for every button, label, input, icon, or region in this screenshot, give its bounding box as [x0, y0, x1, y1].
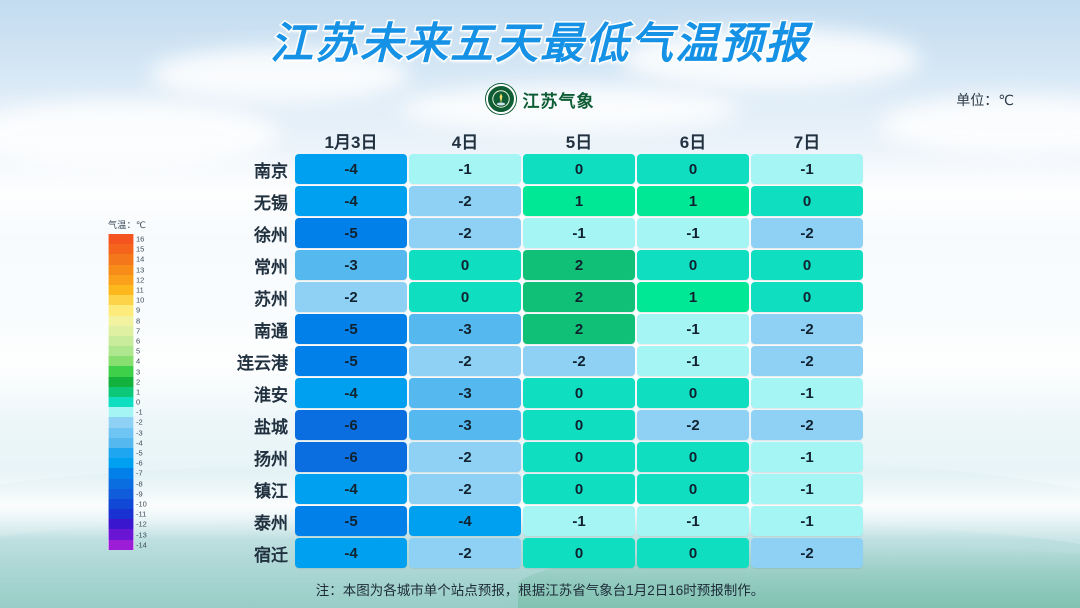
legend-swatch [108, 326, 134, 336]
temperature-cell: -2 [409, 218, 521, 248]
table-body: 南京-4-100-1无锡-4-2110徐州-5-2-1-1-2常州-30200苏… [180, 154, 865, 568]
legend-tick-label: -11 [136, 511, 146, 519]
row-header-city: 泰州 [180, 509, 295, 534]
brand-name: 江苏气象 [523, 87, 595, 112]
legend-row: 10 [108, 295, 164, 305]
temperature-cell: 0 [523, 538, 635, 568]
temperature-cell: 0 [523, 442, 635, 472]
legend-swatch [108, 499, 134, 509]
legend-row: 11 [108, 285, 164, 295]
legend-tick-label: 15 [136, 246, 144, 254]
legend-tick-label: -9 [136, 490, 143, 498]
legend-swatch [108, 346, 134, 356]
legend-tick-label: -5 [136, 450, 143, 458]
temperature-cell: -4 [295, 186, 407, 216]
legend-tick-label: 4 [136, 358, 140, 366]
legend-swatch [108, 305, 134, 315]
temperature-cell: -6 [295, 442, 407, 472]
legend-row: 12 [108, 275, 164, 285]
temperature-cell: -1 [751, 154, 863, 184]
column-header-day-2: 4日 [409, 128, 521, 153]
legend-tick-label: 11 [136, 287, 144, 295]
legend-tick-label: 5 [136, 348, 140, 356]
legend-row: -14 [108, 540, 164, 550]
legend-row: -9 [108, 489, 164, 499]
temperature-cell: -5 [295, 314, 407, 344]
forecast-table: 1月3日4日5日6日7日 南京-4-100-1无锡-4-2110徐州-5-2-1… [180, 126, 865, 570]
legend-row: 9 [108, 305, 164, 315]
legend-swatch [108, 254, 134, 264]
legend-swatch [108, 428, 134, 438]
temperature-cell: 0 [409, 282, 521, 312]
legend-swatch [108, 458, 134, 468]
legend-row: 0 [108, 397, 164, 407]
legend-tick-label: 16 [136, 236, 144, 244]
legend-tick-label: 0 [136, 399, 140, 407]
legend-row: -6 [108, 458, 164, 468]
temperature-cell: -2 [751, 410, 863, 440]
legend-swatch [108, 285, 134, 295]
temperature-cell: 0 [523, 378, 635, 408]
row-header-city: 无锡 [180, 189, 295, 214]
column-header-day-3: 5日 [523, 128, 635, 153]
table-row: 盐城-6-30-2-2 [180, 410, 865, 440]
table-row: 常州-30200 [180, 250, 865, 280]
temperature-cell: -2 [637, 410, 749, 440]
temperature-cell: -1 [523, 218, 635, 248]
unit-label: 单位：℃ [956, 90, 1014, 110]
legend-row: -4 [108, 438, 164, 448]
temperature-cell: -5 [295, 218, 407, 248]
temperature-cell: 0 [751, 250, 863, 280]
temperature-cell: -2 [295, 282, 407, 312]
temperature-cell: -5 [295, 346, 407, 376]
legend-tick-label: -13 [136, 531, 147, 539]
temperature-cell: -1 [637, 346, 749, 376]
legend-row: -10 [108, 499, 164, 509]
temperature-cell: 1 [523, 186, 635, 216]
legend-swatch [108, 529, 134, 539]
legend-row: 6 [108, 336, 164, 346]
legend-tick-label: 9 [136, 307, 140, 315]
legend-row: 2 [108, 377, 164, 387]
legend-tick-label: 6 [136, 338, 140, 346]
legend-swatch [108, 540, 134, 550]
row-header-city: 盐城 [180, 413, 295, 438]
temperature-cell: 2 [523, 250, 635, 280]
legend-row: 7 [108, 326, 164, 336]
temperature-cell: 2 [523, 282, 635, 312]
column-header-day-5: 7日 [751, 128, 863, 153]
temperature-cell: -1 [751, 506, 863, 536]
temperature-cell: -1 [637, 314, 749, 344]
legend-row: 1 [108, 387, 164, 397]
legend-swatch [108, 438, 134, 448]
row-header-city: 淮安 [180, 381, 295, 406]
column-header-day-1: 1月3日 [295, 128, 407, 153]
weather-forecast-infographic: 江苏未来五天最低气温预报 江苏气象 单位：℃ 气温：℃ 161514131211… [0, 0, 1080, 608]
legend-tick-label: -6 [136, 460, 143, 468]
legend-title: 气温：℃ [108, 218, 164, 231]
temperature-cell: -4 [295, 378, 407, 408]
legend-row: -1 [108, 407, 164, 417]
legend-swatch [108, 407, 134, 417]
table-row: 无锡-4-2110 [180, 186, 865, 216]
legend-row: 13 [108, 265, 164, 275]
table-row: 淮安-4-300-1 [180, 378, 865, 408]
table-row: 镇江-4-200-1 [180, 474, 865, 504]
legend-row: -13 [108, 529, 164, 539]
temperature-cell: -2 [751, 538, 863, 568]
row-header-city: 连云港 [180, 349, 295, 374]
legend-swatch [108, 397, 134, 407]
legend-swatch [108, 366, 134, 376]
row-header-city: 苏州 [180, 285, 295, 310]
temperature-cell: -2 [409, 186, 521, 216]
legend-swatch [108, 489, 134, 499]
legend-row: -7 [108, 468, 164, 478]
temperature-cell: 2 [523, 314, 635, 344]
brand-block: 江苏气象 [0, 84, 1080, 114]
table-column-header-row: 1月3日4日5日6日7日 [295, 126, 865, 154]
temperature-cell: -4 [295, 154, 407, 184]
temperature-cell: -6 [295, 410, 407, 440]
legend-row: -12 [108, 519, 164, 529]
temperature-cell: -3 [409, 378, 521, 408]
temperature-cell: -3 [295, 250, 407, 280]
temperature-cell: -1 [751, 378, 863, 408]
legend-row: 3 [108, 366, 164, 376]
temperature-cell: 0 [409, 250, 521, 280]
color-scale-legend: 气温：℃ 161514131211109876543210-1-2-3-4-5-… [108, 218, 164, 550]
legend-swatch [108, 417, 134, 427]
temperature-cell: -3 [409, 410, 521, 440]
page-title: 江苏未来五天最低气温预报 [0, 18, 1080, 70]
temperature-cell: 0 [523, 474, 635, 504]
legend-row: -11 [108, 509, 164, 519]
legend-swatch [108, 448, 134, 458]
row-header-city: 扬州 [180, 445, 295, 470]
temperature-cell: 0 [751, 186, 863, 216]
legend-row: 14 [108, 254, 164, 264]
legend-row: 8 [108, 316, 164, 326]
legend-row: -3 [108, 428, 164, 438]
legend-tick-label: 10 [136, 297, 144, 305]
temperature-cell: 0 [523, 410, 635, 440]
legend-tick-label: -14 [136, 541, 147, 549]
row-header-city: 徐州 [180, 221, 295, 246]
temperature-cell: -1 [751, 442, 863, 472]
temperature-cell: -2 [751, 346, 863, 376]
legend-swatch [108, 468, 134, 478]
legend-swatch [108, 509, 134, 519]
temperature-cell: -4 [295, 474, 407, 504]
table-row: 宿迁-4-200-2 [180, 538, 865, 568]
temperature-cell: 1 [637, 282, 749, 312]
legend-tick-label: -7 [136, 470, 143, 478]
temperature-cell: 0 [637, 378, 749, 408]
legend-tick-label: 8 [136, 317, 140, 325]
temperature-cell: -2 [523, 346, 635, 376]
temperature-cell: 0 [637, 250, 749, 280]
legend-tick-label: -1 [136, 409, 143, 417]
temperature-cell: -1 [637, 506, 749, 536]
legend-tick-label: 12 [136, 276, 144, 284]
weather-bureau-emblem-icon [486, 84, 516, 114]
table-row: 南通-5-32-1-2 [180, 314, 865, 344]
temperature-cell: -2 [409, 442, 521, 472]
legend-swatch [108, 479, 134, 489]
header: 江苏未来五天最低气温预报 江苏气象 单位：℃ [0, 0, 1080, 120]
row-header-city: 宿迁 [180, 541, 295, 566]
legend-swatch [108, 316, 134, 326]
column-header-day-4: 6日 [637, 128, 749, 153]
temperature-cell: -4 [295, 538, 407, 568]
legend-tick-label: -10 [136, 501, 147, 509]
legend-swatch [108, 387, 134, 397]
legend-tick-label: 13 [136, 266, 144, 274]
legend-swatch [108, 336, 134, 346]
row-header-city: 南京 [180, 157, 295, 182]
legend-tick-label: -12 [136, 521, 147, 529]
row-header-city: 南通 [180, 317, 295, 342]
table-row: 徐州-5-2-1-1-2 [180, 218, 865, 248]
legend-tick-label: -2 [136, 419, 143, 427]
temperature-cell: -1 [637, 218, 749, 248]
legend-row: 5 [108, 346, 164, 356]
legend-tick-label: 3 [136, 368, 140, 376]
temperature-cell: -1 [409, 154, 521, 184]
legend-tick-label: 7 [136, 327, 140, 335]
legend-swatch-list: 161514131211109876543210-1-2-3-4-5-6-7-8… [108, 234, 164, 550]
legend-row: 4 [108, 356, 164, 366]
legend-swatch [108, 519, 134, 529]
legend-tick-label: -4 [136, 439, 143, 447]
legend-tick-label: 1 [136, 388, 140, 396]
legend-swatch [108, 244, 134, 254]
legend-swatch [108, 356, 134, 366]
row-header-city: 常州 [180, 253, 295, 278]
legend-swatch [108, 275, 134, 285]
table-row: 泰州-5-4-1-1-1 [180, 506, 865, 536]
temperature-cell: 0 [751, 282, 863, 312]
legend-swatch [108, 265, 134, 275]
temperature-cell: 0 [637, 538, 749, 568]
legend-tick-label: -3 [136, 429, 143, 437]
temperature-cell: -1 [751, 474, 863, 504]
table-row: 苏州-20210 [180, 282, 865, 312]
legend-row: -8 [108, 479, 164, 489]
legend-swatch [108, 377, 134, 387]
temperature-cell: 0 [637, 474, 749, 504]
temperature-cell: -1 [523, 506, 635, 536]
row-header-city: 镇江 [180, 477, 295, 502]
temperature-cell: -3 [409, 314, 521, 344]
temperature-cell: -2 [751, 314, 863, 344]
legend-tick-label: 2 [136, 378, 140, 386]
temperature-cell: 0 [523, 154, 635, 184]
footnote: 注：本图为各城市单个站点预报，根据江苏省气象台1月2日16时预报制作。 [0, 579, 1080, 599]
temperature-cell: 0 [637, 154, 749, 184]
temperature-cell: -2 [751, 218, 863, 248]
temperature-cell: -4 [409, 506, 521, 536]
temperature-cell: -2 [409, 346, 521, 376]
temperature-cell: 1 [637, 186, 749, 216]
legend-swatch [108, 234, 134, 244]
temperature-cell: -2 [409, 474, 521, 504]
legend-swatch [108, 295, 134, 305]
table-row: 扬州-6-200-1 [180, 442, 865, 472]
legend-row: -5 [108, 448, 164, 458]
legend-row: 15 [108, 244, 164, 254]
temperature-cell: -5 [295, 506, 407, 536]
legend-tick-label: 14 [136, 256, 144, 264]
legend-tick-label: -8 [136, 480, 143, 488]
table-row: 南京-4-100-1 [180, 154, 865, 184]
temperature-cell: -2 [409, 538, 521, 568]
table-row: 连云港-5-2-2-1-2 [180, 346, 865, 376]
legend-row: -2 [108, 417, 164, 427]
temperature-cell: 0 [637, 442, 749, 472]
legend-row: 16 [108, 234, 164, 244]
